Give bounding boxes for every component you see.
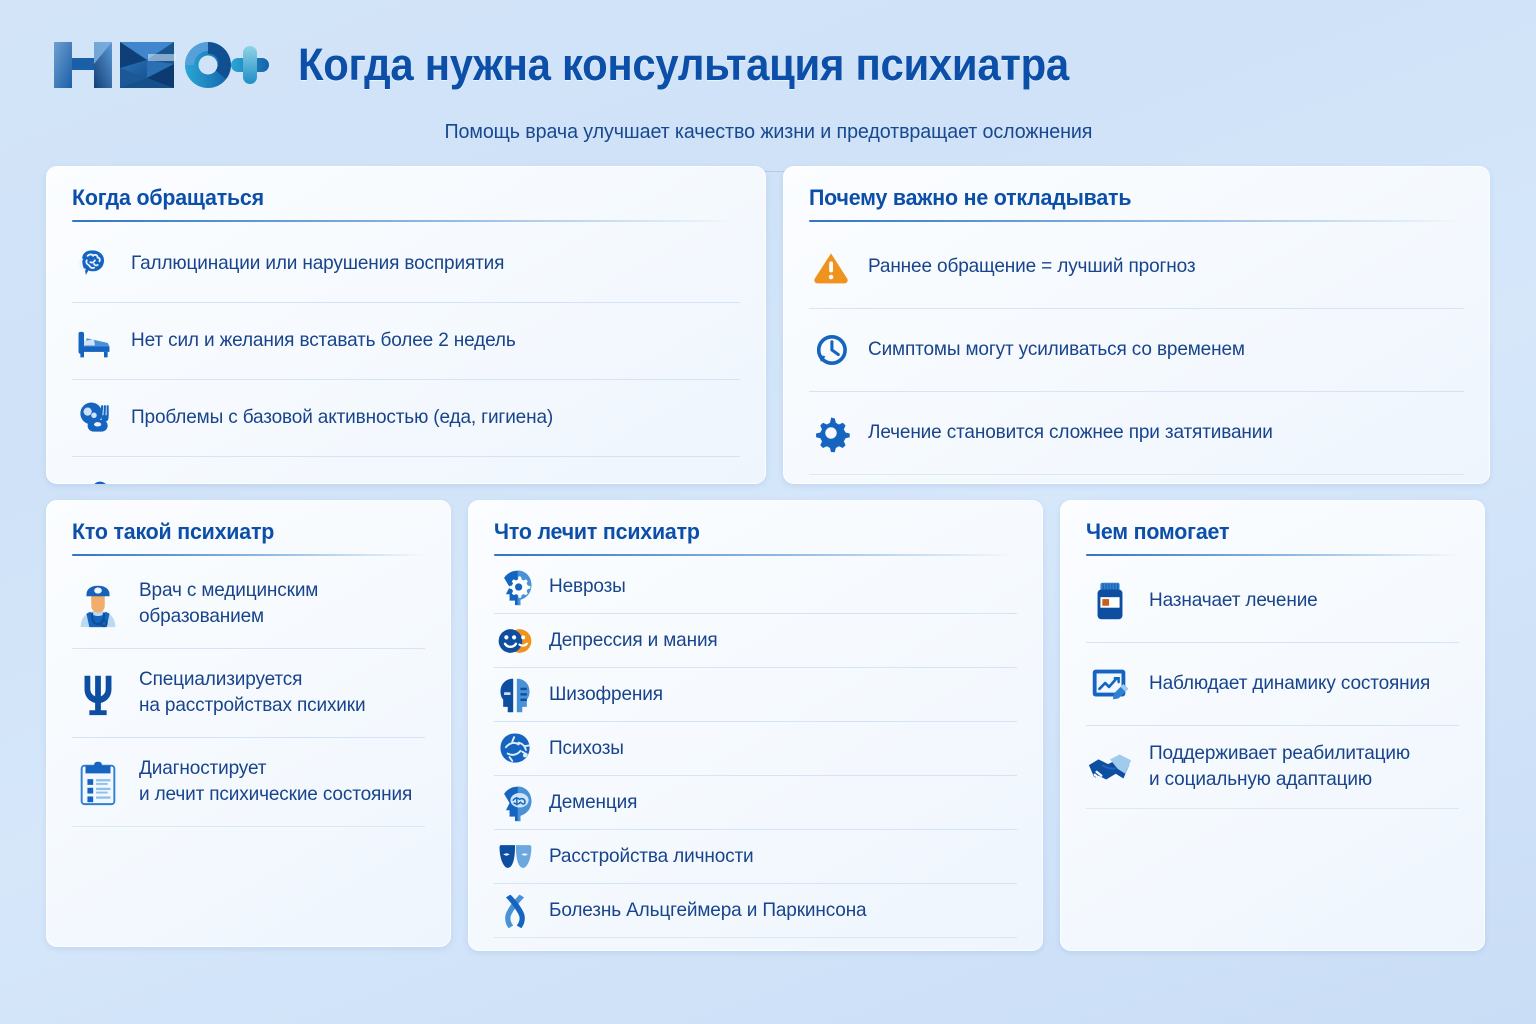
list-item-label: Наблюдает динамику состояния bbox=[1149, 671, 1430, 697]
list-item[interactable]: Назначает лечение bbox=[1086, 560, 1459, 643]
chart-edit-icon bbox=[1086, 660, 1134, 708]
list-item-label: Галлюцинации или нарушения восприятия bbox=[131, 251, 504, 277]
subtitle-wrap: Помощь врача улучшает качество жизни и п… bbox=[0, 120, 1536, 144]
label-line-1: Поддерживает реабилитацию bbox=[1149, 742, 1410, 764]
gear-icon bbox=[809, 411, 853, 455]
card-title-divider bbox=[494, 554, 1017, 556]
list-item[interactable]: Неврозы bbox=[494, 560, 1017, 614]
card-why-not-delay: Почему важно не откладывать Раннее обращ… bbox=[783, 166, 1491, 484]
handshake-icon bbox=[1086, 743, 1134, 791]
doctor-icon bbox=[72, 578, 124, 630]
neo-plus-logo bbox=[48, 34, 272, 96]
pill-bottle-icon bbox=[1086, 577, 1134, 625]
helps-items: Назначает лечение Наблюдает динамику сос… bbox=[1086, 560, 1459, 809]
list-item-label: Депрессия и мания bbox=[549, 628, 718, 654]
list-item-label: Нет сил и желания вставать более 2 недел… bbox=[131, 328, 516, 354]
list-item[interactable]: Шизофрения bbox=[494, 668, 1017, 722]
list-item[interactable]: Лечение становится сложнее при затятиван… bbox=[809, 392, 1465, 475]
label-line-2: на расстройствах психики bbox=[139, 693, 365, 719]
psi-icon bbox=[72, 667, 124, 719]
brain-icon bbox=[72, 242, 116, 286]
list-item-label: Неврозы bbox=[549, 574, 626, 600]
head-gear-icon bbox=[494, 566, 536, 608]
meal-icon bbox=[72, 396, 116, 440]
pill-icon bbox=[72, 473, 116, 484]
list-item-label: Лечение становится сложнее при затятиван… bbox=[868, 420, 1273, 446]
label-line-2: и лечит психические состояния bbox=[139, 782, 412, 808]
top-row: Когда обращаться Галлюцинации или наруше… bbox=[0, 166, 1536, 484]
why-items: Раннее обращение = лучший прогноз Симпто… bbox=[809, 226, 1465, 475]
list-item-label: Раннее обращение = лучший прогноз bbox=[868, 254, 1195, 280]
list-item[interactable]: Раннее обращение = лучший прогноз bbox=[809, 226, 1465, 309]
ribbon-icon bbox=[494, 890, 536, 932]
list-item-label: Деменция bbox=[549, 790, 637, 816]
page-header: Когда нужна консультация психиатра bbox=[0, 0, 1536, 104]
warning-triangle-icon bbox=[809, 245, 853, 289]
list-item[interactable]: Поддерживает реабилитацию и социальную а… bbox=[1086, 726, 1459, 809]
treats-items: Неврозы Депрессия и мания bbox=[494, 560, 1017, 938]
list-item-label: Психозы bbox=[549, 736, 624, 762]
page-subtitle: Помощь врача улучшает качество жизни и п… bbox=[444, 120, 1092, 144]
card-title-why: Почему важно не откладывать bbox=[809, 185, 1432, 211]
card-title-divider bbox=[72, 220, 740, 222]
clipboard-icon bbox=[72, 756, 124, 808]
card-when-to-seek-help: Когда обращаться Галлюцинации или наруше… bbox=[46, 166, 766, 484]
when-items: Галлюцинации или нарушения восприятия Не… bbox=[72, 226, 740, 484]
list-item[interactable]: Симптомы на фоне зависимостей или заболе… bbox=[72, 457, 740, 484]
list-item-label: Поддерживает реабилитацию и социальную а… bbox=[1149, 741, 1410, 792]
split-head-icon bbox=[494, 674, 536, 716]
list-item-label: Врач с медицинским образованием bbox=[139, 578, 318, 629]
card-title-divider bbox=[1086, 554, 1459, 556]
list-item[interactable]: Психозы bbox=[494, 722, 1017, 776]
card-how-it-helps: Чем помогает bbox=[1060, 500, 1485, 951]
list-item[interactable]: Галлюцинации или нарушения восприятия bbox=[72, 226, 740, 303]
head-brain-icon bbox=[494, 782, 536, 824]
card-what-psychiatrist-treats: Что лечит психиатр Неврозы bbox=[468, 500, 1043, 951]
who-items: Врач с медицинским образованием Специали… bbox=[72, 560, 425, 827]
card-who-is-psychiatrist: Кто такой психиатр Врач с медици bbox=[46, 500, 451, 947]
list-item-label: Проблемы с базовой активностью (еда, гиг… bbox=[131, 405, 553, 431]
list-item-label: Диагностирует и лечит психические состоя… bbox=[139, 756, 412, 807]
masks-icon bbox=[494, 836, 536, 878]
list-item[interactable]: Болезнь Альцгеймера и Паркинсона bbox=[494, 884, 1017, 938]
label-line-2: и социальную адаптацию bbox=[1149, 767, 1410, 793]
card-title-who: Кто такой психиатр bbox=[72, 519, 407, 545]
list-item-label: Специализируется на расстройствах психик… bbox=[139, 667, 365, 718]
two-faces-icon bbox=[494, 620, 536, 662]
label-line-1: Врач с медицинским bbox=[139, 579, 318, 601]
list-item[interactable]: Расстройства личности bbox=[494, 830, 1017, 884]
label-line-1: Специализируется bbox=[139, 668, 302, 690]
list-item-label: Назначает лечение bbox=[1149, 588, 1318, 614]
card-title-treats: Что лечит психиатр bbox=[494, 519, 991, 545]
list-item[interactable]: Проблемы с базовой активностью (еда, гиг… bbox=[72, 380, 740, 457]
list-item[interactable]: Деменция bbox=[494, 776, 1017, 830]
list-item[interactable]: Специализируется на расстройствах психик… bbox=[72, 649, 425, 738]
list-item-label: Шизофрения bbox=[549, 682, 663, 708]
list-item-label: Симптомы могут усиливаться со временем bbox=[868, 337, 1245, 363]
list-item-label: Расстройства личности bbox=[549, 844, 754, 870]
list-item[interactable]: Наблюдает динамику состояния bbox=[1086, 643, 1459, 726]
list-item-label: Симптомы на фоне зависимостей или заболе… bbox=[131, 482, 582, 484]
psychosis-icon bbox=[494, 728, 536, 770]
page-title: Когда нужна консультация психиатра bbox=[298, 39, 1069, 91]
list-item[interactable]: Диагностирует и лечит психические состоя… bbox=[72, 738, 425, 827]
clock-icon bbox=[809, 328, 853, 372]
bottom-row: Кто такой психиатр Врач с медици bbox=[0, 500, 1536, 956]
card-title-divider bbox=[809, 220, 1465, 222]
bed-icon bbox=[72, 319, 116, 363]
list-item[interactable]: Симптомы могут усиливаться со временем bbox=[809, 309, 1465, 392]
list-item-label: Болезнь Альцгеймера и Паркинсона bbox=[549, 898, 866, 924]
label-line-2: образованием bbox=[139, 604, 318, 630]
list-item[interactable]: Нет сил и желания вставать более 2 недел… bbox=[72, 303, 740, 380]
card-title-helps: Чем помогает bbox=[1086, 519, 1440, 545]
label-line-1: Диагностирует bbox=[139, 757, 266, 779]
list-item[interactable]: Врач с медицинским образованием bbox=[72, 560, 425, 649]
card-title-divider bbox=[72, 554, 425, 556]
list-item[interactable]: Депрессия и мания bbox=[494, 614, 1017, 668]
card-title-when: Когда обращаться bbox=[72, 185, 706, 211]
